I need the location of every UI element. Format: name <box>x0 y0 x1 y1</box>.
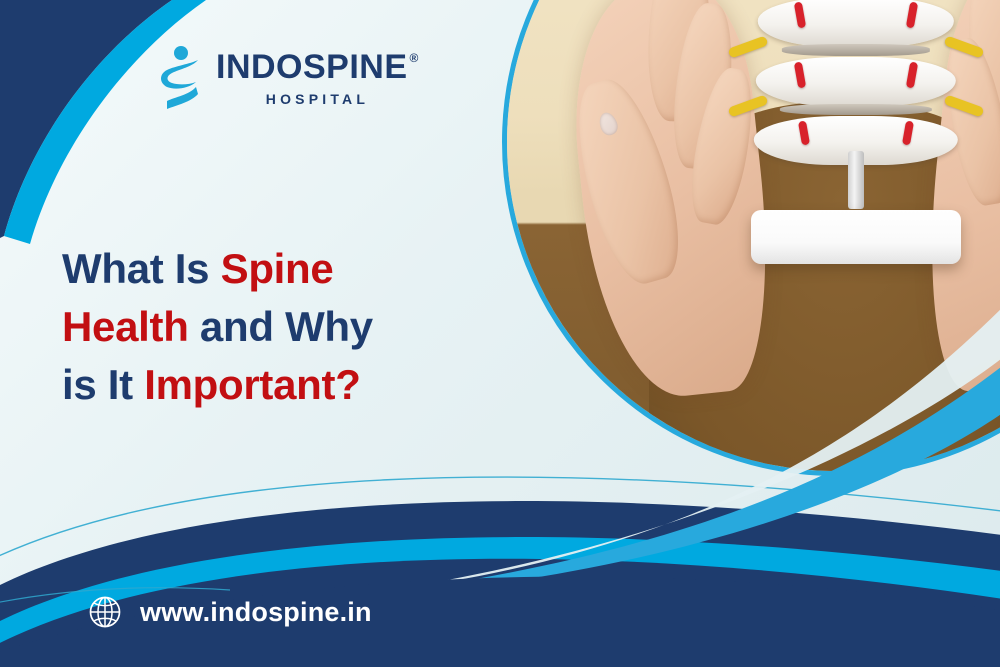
brand-subtitle: HOSPITAL <box>266 91 369 107</box>
page-title: What Is Spine Health and Why is It Impor… <box>62 240 482 414</box>
intervertebral-disc <box>782 44 930 56</box>
headline-line-2: Health and Why <box>62 298 482 356</box>
brand-name-wrapper: INDOSPINE ® <box>216 50 419 84</box>
spine-photo-disc <box>502 0 1000 476</box>
top-left-navy-wedge <box>0 0 172 238</box>
cervical-spine-model <box>756 0 956 289</box>
brand-name: INDOSPINE <box>216 50 408 84</box>
headline-text-red: Spine <box>221 245 334 292</box>
registered-trademark-icon: ® <box>410 52 419 64</box>
vertebra-c4 <box>758 0 954 47</box>
globe-icon <box>88 595 122 629</box>
vertebra-c5 <box>756 57 956 106</box>
intervertebral-disc <box>780 104 932 116</box>
thin-cyan-arc-line <box>0 477 1000 560</box>
top-left-cyan-stripe <box>4 0 206 244</box>
headline-text-navy: and Why <box>189 303 373 350</box>
banner-root: INDOSPINE ® HOSPITAL What Is Spine Healt… <box>0 0 1000 667</box>
headline-line-1: What Is Spine <box>62 240 482 298</box>
spine-figure-icon <box>158 45 202 111</box>
spine-photo-image <box>502 0 1000 476</box>
headline-text-navy: What Is <box>62 245 221 292</box>
model-stand-base <box>751 210 961 264</box>
model-stand-rod <box>848 151 864 209</box>
footer-bar: www.indospine.in <box>0 557 1000 667</box>
headline-text-red: Important? <box>144 361 360 408</box>
headline-text-red: Health <box>62 303 189 350</box>
headline-text-navy: is It <box>62 361 144 408</box>
website-url[interactable]: www.indospine.in <box>140 597 372 628</box>
headline-line-3: is It Important? <box>62 356 482 414</box>
brand-logo[interactable]: INDOSPINE ® HOSPITAL <box>158 45 419 111</box>
brand-logo-text: INDOSPINE ® HOSPITAL <box>216 50 419 107</box>
